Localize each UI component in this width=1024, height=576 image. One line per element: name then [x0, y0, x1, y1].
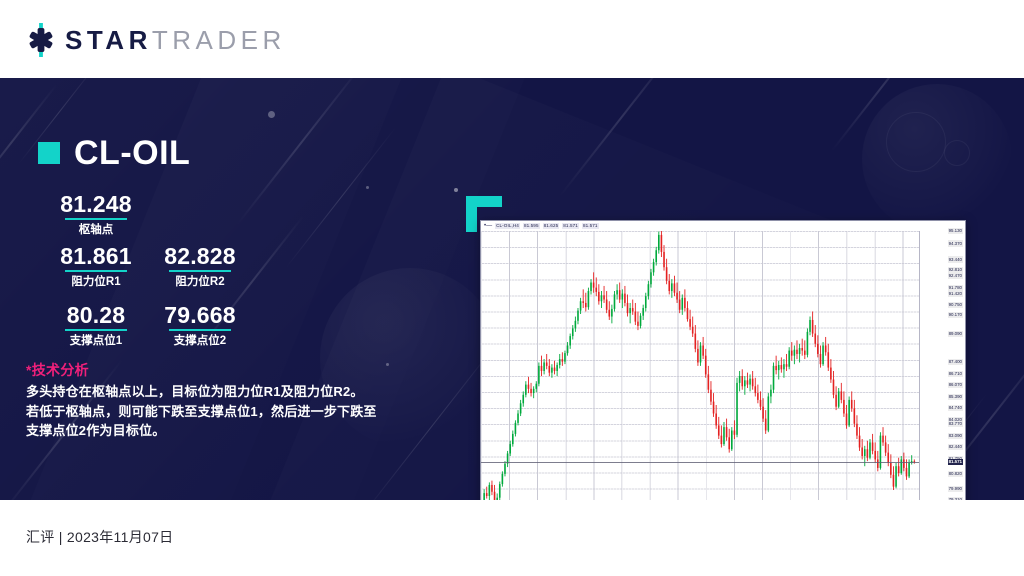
price-tick: 83.090	[948, 433, 963, 439]
price-tick: 79.990	[948, 486, 963, 492]
analysis-body: 多头持仓在枢轴点以上，目标位为阻力位R1及阻力位R2。 若低于枢轴点，则可能下跌…	[26, 382, 406, 441]
level-pivot-underline	[65, 218, 127, 220]
analysis-line-3: 支撑点位2作为目标位。	[26, 421, 406, 441]
chart-close-value: 81.571	[582, 223, 599, 229]
price-chart[interactable]: •— CL-OIL,H4 81.595 81.625 81.571 81.571…	[480, 220, 966, 500]
price-tick: 91.420	[948, 291, 963, 297]
level-pivot-value: 81.248	[32, 191, 160, 217]
current-price-line	[481, 462, 919, 463]
level-resistance2-underline	[169, 270, 231, 272]
star-asterisk-icon	[24, 23, 58, 57]
price-tick: 80.820	[948, 471, 963, 477]
current-price-tick: 81.571	[948, 459, 963, 465]
price-tick: 95.130	[948, 228, 963, 234]
level-resistance2-label: 阻力位R2	[136, 275, 264, 289]
chart-high-value: 81.625	[543, 223, 560, 229]
price-tick: 94.370	[948, 241, 963, 247]
price-tick: 90.750	[948, 302, 963, 308]
price-tick: 92.470	[948, 273, 963, 279]
price-tick: 91.780	[948, 285, 963, 291]
brand-name-secondary: TRADER	[152, 25, 286, 56]
level-support2: 79.668 支撑点位2	[136, 302, 264, 348]
bg-orb-ring-2	[944, 140, 970, 166]
symbol-name: CL-OIL	[74, 136, 190, 170]
price-tick: 93.440	[948, 257, 963, 263]
brand-name-primary: STAR	[65, 25, 152, 56]
price-tick: 87.400	[948, 359, 963, 365]
page-footer: 汇评 | 2023年11月07日	[0, 500, 1024, 576]
bg-dot-3	[454, 188, 458, 192]
page-header: STAR TRADER	[0, 0, 1024, 78]
chart-symbol-timeframe: CL-OIL,H4	[495, 223, 520, 229]
chart-header-info: •— CL-OIL,H4 81.595 81.625 81.571 81.571	[481, 221, 965, 231]
level-support1-underline	[65, 329, 127, 331]
technical-analysis: *技术分析 多头持仓在枢轴点以上，目标位为阻力位R1及阻力位R2。 若低于枢轴点…	[26, 361, 406, 441]
bg-orb-1	[862, 84, 1012, 234]
price-tick: 85.390	[948, 394, 963, 400]
brand-logo: STAR TRADER	[24, 22, 286, 58]
main-stage: CL-OIL 81.248 枢轴点 81.861 阻力位R1 82.828 阻力…	[0, 78, 1024, 500]
level-support2-value: 79.668	[136, 302, 264, 328]
brand-wordmark: STAR TRADER	[65, 25, 286, 56]
price-tick: 86.710	[948, 371, 963, 377]
chart-low-value: 81.571	[562, 223, 579, 229]
symbol-heading: CL-OIL	[38, 136, 190, 170]
square-bullet-icon	[38, 142, 60, 164]
price-tick: 86.070	[948, 382, 963, 388]
bg-streak-9	[831, 78, 931, 152]
bg-dot-1	[268, 111, 275, 118]
analysis-line-1: 多头持仓在枢轴点以上，目标位为阻力位R1及阻力位R2。	[26, 382, 406, 402]
level-pivot: 81.248 枢轴点	[32, 191, 160, 237]
price-tick: 90.170	[948, 312, 963, 318]
price-axis[interactable]: 95.13094.40094.37093.48093.44092.81092.4…	[919, 231, 965, 500]
price-tick: 84.740	[948, 405, 963, 411]
level-resistance1-underline	[65, 270, 127, 272]
level-support2-underline	[169, 329, 231, 331]
chart-plot-area[interactable]	[481, 231, 919, 500]
level-pivot-label: 枢轴点	[32, 223, 160, 237]
footer-caption: 汇评 | 2023年11月07日	[26, 528, 173, 546]
price-tick: 83.770	[948, 421, 963, 427]
chart-cursor-icon: •—	[484, 223, 492, 229]
candlestick-series	[481, 231, 919, 500]
level-resistance2-value: 82.828	[136, 243, 264, 269]
level-support2-label: 支撑点位2	[136, 334, 264, 348]
level-resistance2: 82.828 阻力位R2	[136, 243, 264, 289]
bg-orb-ring-1	[886, 112, 946, 172]
bg-dot-2	[366, 186, 369, 189]
analysis-title: *技术分析	[26, 361, 406, 379]
chart-open-value: 81.595	[523, 223, 540, 229]
analysis-line-2: 若低于枢轴点，则可能下跌至支撑点位1，然后进一步下跌至	[26, 402, 406, 422]
bg-streak-3	[236, 78, 367, 226]
bg-streak-8	[559, 78, 684, 197]
price-tick: 89.090	[948, 331, 963, 337]
price-tick: 82.440	[948, 444, 963, 450]
bg-streak-4	[285, 127, 397, 269]
